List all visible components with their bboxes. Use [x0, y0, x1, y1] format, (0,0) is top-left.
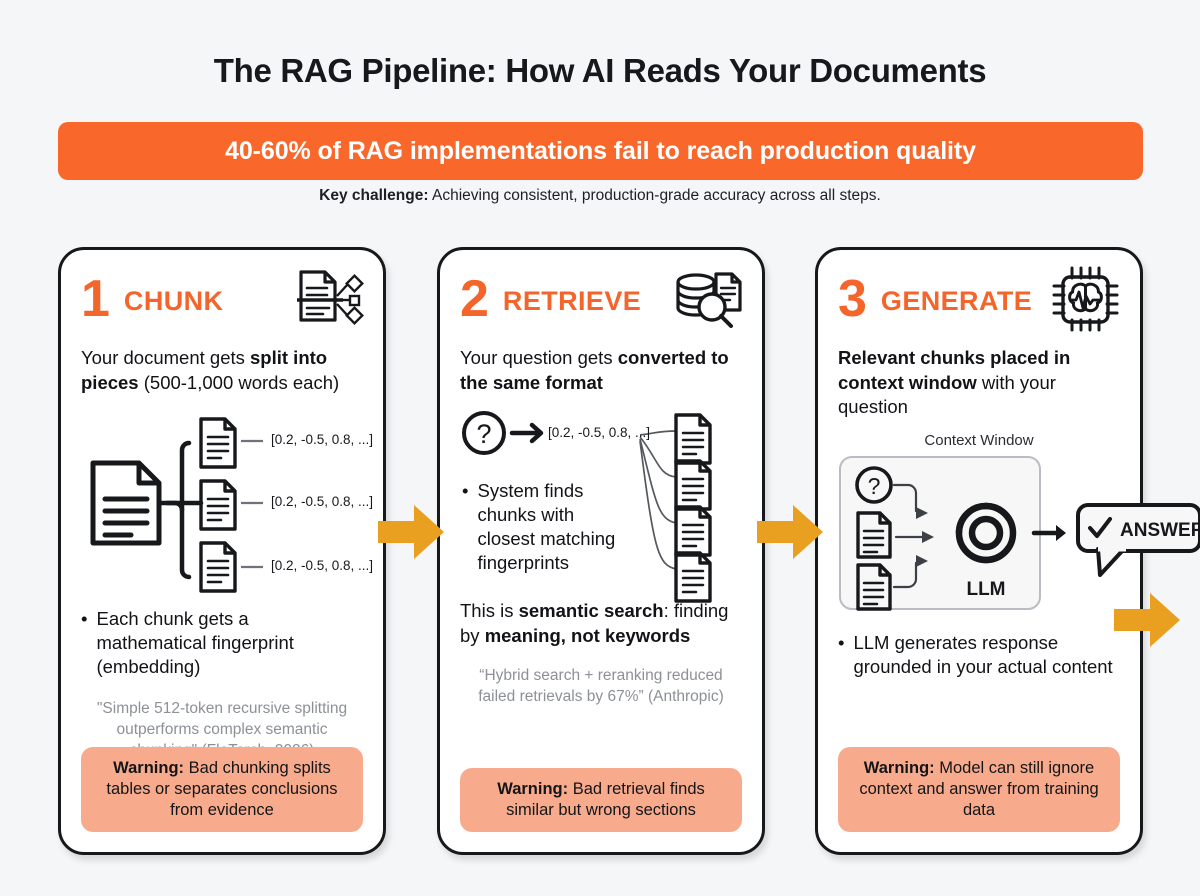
- warning-box: Warning: Bad retrieval finds similar but…: [460, 768, 742, 832]
- stat-banner-text: 40-60% of RAG implementations fail to re…: [225, 137, 976, 166]
- arrow-right-icon: [1114, 591, 1182, 649]
- card-bullet: • LLM generates response grounded in you…: [838, 631, 1120, 679]
- stat-banner: 40-60% of RAG implementations fail to re…: [58, 122, 1143, 180]
- arrow-right-icon: [757, 503, 825, 561]
- document-split-icon: [293, 264, 365, 334]
- retrieval-diagram: ?: [460, 411, 742, 589]
- context-window-diagram: ?: [838, 455, 1120, 615]
- bullet-dot: •: [462, 479, 468, 575]
- vector-label: [0.2, -0.5, 0.8, ...]: [271, 494, 373, 509]
- card-header: 3 GENERATE: [838, 270, 1120, 332]
- warning-label: Warning:: [497, 780, 568, 798]
- card-bullet: • Each chunk gets a mathematical fingerp…: [81, 607, 363, 679]
- bullet-dot: •: [81, 607, 87, 679]
- bullet-text: System finds chunks with closest matchin…: [477, 479, 627, 575]
- bullet-dot: •: [838, 631, 844, 679]
- database-search-icon: [672, 264, 744, 334]
- warning-box: Warning: Bad chunking splits tables or s…: [81, 747, 363, 832]
- subline-part-2: semantic search: [519, 600, 664, 621]
- card-quote: “Hybrid search + reranking reduced faile…: [460, 666, 742, 708]
- card-subline: This is semantic search: finding by mean…: [460, 599, 742, 648]
- card-header: 1 CHUNK: [81, 270, 363, 332]
- subline-part-4: meaning, not keywords: [485, 625, 691, 646]
- arrow-right-icon: [378, 503, 446, 561]
- vector-label: [0.2, -0.5, 0.8, ...]: [271, 558, 373, 573]
- step-number: 3: [838, 273, 867, 325]
- card-lede: Your question gets converted to the same…: [460, 346, 742, 395]
- step-number: 2: [460, 273, 489, 325]
- svg-text:ANSWER: ANSWER: [1120, 520, 1200, 541]
- step-card-generate: 3 GENERATE: [815, 247, 1143, 855]
- warning-label: Warning:: [864, 759, 935, 777]
- context-window-label: Context Window: [838, 432, 1120, 449]
- step-card-retrieve: 2 RETRIEVE: [437, 247, 765, 855]
- query-vector-label: [0.2, -0.5, 0.8, ...]: [548, 425, 650, 440]
- bullet-text: LLM generates response grounded in your …: [853, 631, 1120, 679]
- infographic-root: The RAG Pipeline: How AI Reads Your Docu…: [0, 0, 1200, 896]
- card-lede: Your document gets split into pieces (50…: [81, 346, 363, 395]
- step-number: 1: [81, 273, 110, 325]
- step-label: CHUNK: [124, 286, 224, 317]
- answer-bubble: ANSWER: [1076, 503, 1200, 579]
- chunking-diagram: [0.2, -0.5, 0.8, ...] [0.2, -0.5, 0.8, .…: [81, 409, 363, 585]
- step-label: RETRIEVE: [503, 286, 641, 317]
- card-bullet: • System finds chunks with closest match…: [462, 479, 627, 575]
- svg-text:?: ?: [476, 419, 491, 449]
- key-challenge-line: Key challenge: Achieving consistent, pro…: [0, 187, 1200, 205]
- step-card-chunk: 1 CHUNK: [58, 247, 386, 855]
- chip-brain-icon: [1050, 264, 1122, 334]
- card-header: 2 RETRIEVE: [460, 270, 742, 332]
- subline-part-1: This is: [460, 600, 519, 621]
- key-challenge-text: Achieving consistent, production-grade a…: [429, 187, 881, 204]
- vector-label: [0.2, -0.5, 0.8, ...]: [271, 432, 373, 447]
- key-challenge-label: Key challenge:: [319, 187, 428, 204]
- warning-box: Warning: Model can still ignore context …: [838, 747, 1120, 832]
- lede-part-1: Your question gets: [460, 347, 618, 368]
- svg-text:LLM: LLM: [966, 579, 1005, 600]
- card-lede: Relevant chunks placed in context window…: [838, 346, 1120, 420]
- step-label: GENERATE: [881, 286, 1032, 317]
- bullet-text: Each chunk gets a mathematical fingerpri…: [96, 607, 363, 679]
- page-title: The RAG Pipeline: How AI Reads Your Docu…: [0, 52, 1200, 90]
- warning-label: Warning:: [113, 759, 184, 777]
- lede-part-1: Your document gets: [81, 347, 250, 368]
- lede-part-3: (500-1,000 words each): [139, 372, 340, 393]
- svg-text:?: ?: [868, 473, 881, 499]
